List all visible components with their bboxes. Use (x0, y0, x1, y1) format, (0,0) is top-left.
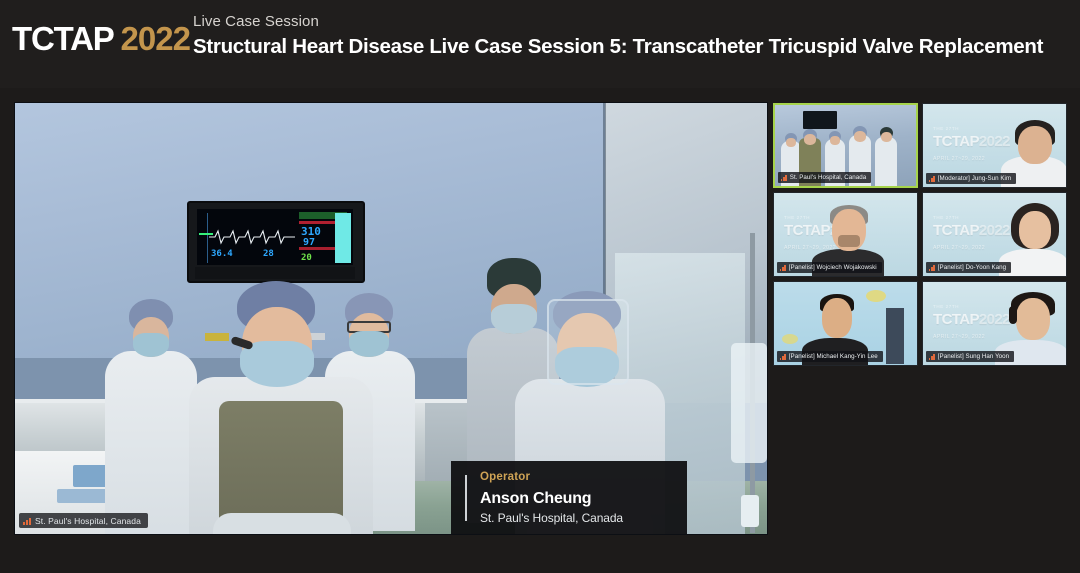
video-stage: 310 97 20 36.4 28 (0, 88, 1080, 573)
operator-name-card: Operator Anson Cheung St. Paul's Hospita… (451, 461, 687, 534)
tile-label: [Panelist] Do-Yoon Kang (926, 262, 1011, 273)
tile-label-text: [Panelist] Sung Han Yoon (938, 353, 1009, 360)
virtual-bg-subtitle: APRIL 27~29, 2022 (933, 152, 1010, 167)
participant-face (1016, 298, 1050, 340)
participant-tile-st-pauls[interactable]: St. Paul's Hospital, Canada (773, 103, 918, 188)
tile-label-text: [Panelist] Wojciech Wojakowski (789, 264, 877, 271)
folded-arms (213, 513, 351, 535)
tile-label: [Panelist] Michael Kang-Yin Lee (777, 351, 883, 362)
tile-label: [Moderator] Jung-Sun Kim (926, 173, 1016, 184)
operator-anson-cheung (185, 281, 375, 535)
logo-text-year: 2022 (121, 20, 190, 58)
participant-tile-jung-sun-kim[interactable]: THE 27TH TCTAP2022 APRIL 27~29, 2022 [Mo… (922, 103, 1067, 188)
monitor-bezel (195, 267, 355, 279)
background-shape (866, 290, 886, 302)
iv-bag (731, 343, 767, 463)
virtual-bg-logo: TCTAP2022 APRIL 27~29, 2022 (933, 312, 1010, 345)
session-header-text: Live Case Session Structural Heart Disea… (193, 12, 1043, 61)
monitor-screen: 310 97 20 36.4 28 (197, 209, 353, 265)
face-shield (547, 299, 629, 385)
mini-monitor (803, 111, 837, 129)
background-shape (782, 334, 798, 344)
surgical-mask (133, 333, 169, 357)
main-video-player[interactable]: 310 97 20 36.4 28 (14, 102, 768, 535)
accent-rule (465, 475, 467, 521)
tile-label-text: St. Paul's Hospital, Canada (790, 174, 866, 181)
tile-label: [Panelist] Wojciech Wojakowski (777, 262, 882, 273)
mini-face (881, 132, 892, 142)
session-kicker: Live Case Session (193, 12, 1043, 32)
virtual-bg-kicker: THE 27TH (784, 215, 810, 220)
signal-bars-icon (929, 354, 935, 360)
participant-face (1019, 211, 1051, 249)
virtual-bg-logo: TCTAP2022 APRIL 27~29, 2022 (933, 134, 1010, 167)
participant-face (1018, 126, 1052, 164)
mini-face (830, 136, 840, 145)
tile-label-text: [Panelist] Do-Yoon Kang (938, 264, 1006, 271)
virtual-bg-subtitle: APRIL 27~29, 2022 (933, 330, 1010, 345)
monitor-waveform (209, 229, 295, 245)
signal-bars-icon (780, 354, 786, 360)
tile-label-text: [Moderator] Jung-Sun Kim (938, 175, 1011, 182)
vital-signs-monitor: 310 97 20 36.4 28 (187, 201, 365, 283)
monitor-trend-block (335, 213, 351, 263)
operator-role-label: Operator (480, 469, 623, 485)
participant-beard (838, 235, 860, 247)
signal-bars-icon (929, 265, 935, 271)
logo-text-main: TCTAP (12, 20, 114, 58)
monitor-value-temp: 36.4 (211, 249, 233, 259)
monitor-value-bp: 28 (263, 249, 274, 259)
monitor-value-spo2: 97 (303, 237, 315, 248)
operator-name: Anson Cheung (480, 488, 623, 509)
participant-tile-do-yoon-kang[interactable]: THE 27TH TCTAP2022 APRIL 27~29, 2022 [Pa… (922, 192, 1067, 277)
virtual-bg-logo: TCTAP2022 APRIL 27~29, 2022 (933, 223, 1010, 256)
headphone-cup-icon (1009, 306, 1017, 324)
virtual-bg-kicker: THE 27TH (933, 126, 959, 131)
iv-drip-chamber (741, 495, 759, 527)
signal-bars-icon (780, 265, 786, 271)
virtual-bg-kicker: THE 27TH (933, 215, 959, 220)
mini-face (804, 134, 816, 145)
page-title: Structural Heart Disease Live Case Sessi… (193, 33, 1043, 61)
participant-tile-michael-kang-yin-lee[interactable]: [Panelist] Michael Kang-Yin Lee (773, 281, 918, 366)
participant-face (822, 298, 852, 338)
mini-face (786, 138, 796, 147)
surgical-gown (105, 351, 197, 535)
mini-staff (875, 137, 897, 187)
participant-tile-sung-han-yoon[interactable]: THE 27TH TCTAP2022 APRIL 27~29, 2022 [Pa… (922, 281, 1067, 366)
monitor-value-resp: 20 (301, 253, 312, 263)
virtual-bg-kicker: THE 27TH (933, 304, 959, 309)
watermark-label: St. Paul's Hospital, Canada (35, 516, 141, 526)
virtual-bg-subtitle: APRIL 27~29, 2022 (933, 241, 1010, 256)
background-shape (886, 308, 904, 364)
tctap-logo: TCTAP 2022 (12, 20, 190, 58)
tile-label-text: [Panelist] Michael Kang-Yin Lee (789, 353, 878, 360)
main-video-watermark: St. Paul's Hospital, Canada (19, 513, 148, 528)
participant-grid: St. Paul's Hospital, Canada THE 27TH TCT… (773, 103, 1067, 363)
mini-face (854, 131, 866, 142)
tile-label: St. Paul's Hospital, Canada (778, 172, 871, 183)
tile-label: [Panelist] Sung Han Yoon (926, 351, 1014, 362)
participant-tile-wojciech-wojakowski[interactable]: THE 27TH TCTAP2022 APRIL 27~29, 2022 [Pa… (773, 192, 918, 277)
operator-details: Operator Anson Cheung St. Paul's Hospita… (480, 469, 623, 526)
operator-affiliation: St. Paul's Hospital, Canada (480, 510, 623, 526)
page-header: TCTAP 2022 Live Case Session Structural … (0, 0, 1080, 88)
signal-bars-icon (23, 517, 31, 525)
signal-bars-icon (781, 175, 787, 181)
signal-bars-icon (929, 176, 935, 182)
